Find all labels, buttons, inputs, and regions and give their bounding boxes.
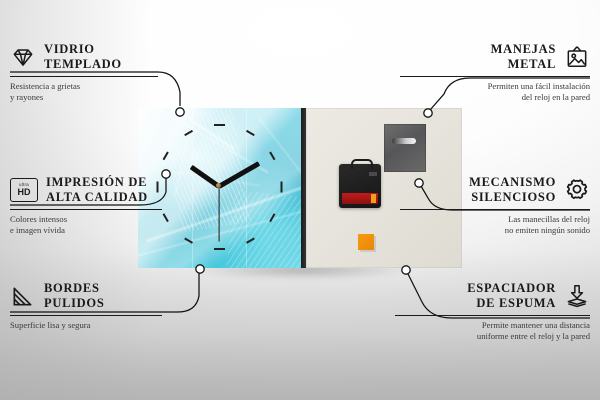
feature-manejas-metal: MANEJAS METAL Permiten una fácil instala… [400, 42, 590, 104]
gear-icon [564, 177, 590, 203]
polished-edge-icon [10, 283, 36, 309]
feature-title-line2: DE ESPUMA [467, 296, 556, 311]
mechanism-chip [369, 172, 377, 176]
clock-tick [214, 248, 225, 250]
feature-desc-line1: Las manecillas del reloj [400, 214, 590, 226]
feature-espaciador-espuma: ESPACIADOR DE ESPUMA Permite mantener un… [395, 281, 590, 343]
feature-desc-line2: uniforme entre el reloj y la pared [395, 331, 590, 343]
feature-title-line1: ESPACIADOR [467, 281, 556, 296]
feature-desc-line1: Superficie lisa y segura [10, 320, 195, 332]
foam-spacer [358, 234, 374, 250]
hanger-slot [392, 138, 416, 144]
feature-desc-line2: e imagen vívida [10, 225, 195, 237]
feature-title-line1: IMPRESIÓN DE [46, 175, 148, 190]
feature-title-line2: METAL [491, 57, 556, 72]
metal-hanger-plate [384, 124, 426, 172]
ultra-hd-icon-main-text: HD [18, 188, 31, 197]
diamond-icon [10, 44, 36, 70]
ultra-hd-icon: ultra HD [10, 178, 38, 202]
feature-title-line1: MANEJAS [491, 42, 556, 57]
feature-rule [10, 315, 162, 316]
feature-header: ultra HD IMPRESIÓN DE ALTA CALIDAD [10, 175, 195, 206]
battery [342, 193, 378, 204]
feature-title-line1: VIDRIO [44, 42, 122, 57]
feature-rule [395, 315, 590, 316]
feature-desc-line1: Permite mantener una distancia [395, 320, 590, 332]
feature-title-line2: PULIDOS [44, 296, 104, 311]
feature-desc-line1: Permiten una fácil instalación [400, 81, 590, 93]
feature-impresion-alta-calidad: ultra HD IMPRESIÓN DE ALTA CALIDAD Color… [10, 175, 195, 237]
feature-rule [10, 209, 162, 210]
feature-desc-line2: y rayones [10, 92, 190, 104]
feature-title-line2: ALTA CALIDAD [46, 190, 148, 205]
infographic-canvas: VIDRIO TEMPLADO Resistencia a grietas y … [0, 0, 600, 400]
clock-second-hand [218, 186, 219, 242]
feature-rule [400, 76, 590, 77]
feature-desc-line1: Resistencia a grietas [10, 81, 190, 93]
down-arrow-stack-icon [564, 283, 590, 309]
feature-mecanismo-silencioso: MECANISMO SILENCIOSO Las manecillas del … [400, 175, 590, 237]
feature-title-line2: SILENCIOSO [469, 190, 556, 205]
clock-tick [280, 182, 282, 193]
feature-desc-line2: no emiten ningún sonido [400, 225, 590, 237]
mechanism-hook [351, 159, 373, 169]
feature-header: ESPACIADOR DE ESPUMA [395, 281, 590, 312]
clock-mechanism-box [339, 164, 381, 208]
feature-title-line1: MECANISMO [469, 175, 556, 190]
clock-center-cap [216, 183, 221, 188]
feature-header: MANEJAS METAL [400, 42, 590, 73]
feature-desc-line1: Colores intensos [10, 214, 195, 226]
feature-title-line1: BORDES [44, 281, 104, 296]
clock-tick [214, 124, 225, 126]
feature-title-line2: TEMPLADO [44, 57, 122, 72]
feature-rule [400, 209, 590, 210]
feature-rule [10, 76, 158, 77]
feature-vidrio-templado: VIDRIO TEMPLADO Resistencia a grietas y … [10, 42, 190, 104]
picture-hanger-icon [564, 44, 590, 70]
feature-desc-line2: del reloj en la pared [400, 92, 590, 104]
feature-bordes-pulidos: BORDES PULIDOS Superficie lisa y segura [10, 281, 195, 331]
feature-header: VIDRIO TEMPLADO [10, 42, 190, 73]
feature-header: BORDES PULIDOS [10, 281, 195, 312]
feature-header: MECANISMO SILENCIOSO [400, 175, 590, 206]
